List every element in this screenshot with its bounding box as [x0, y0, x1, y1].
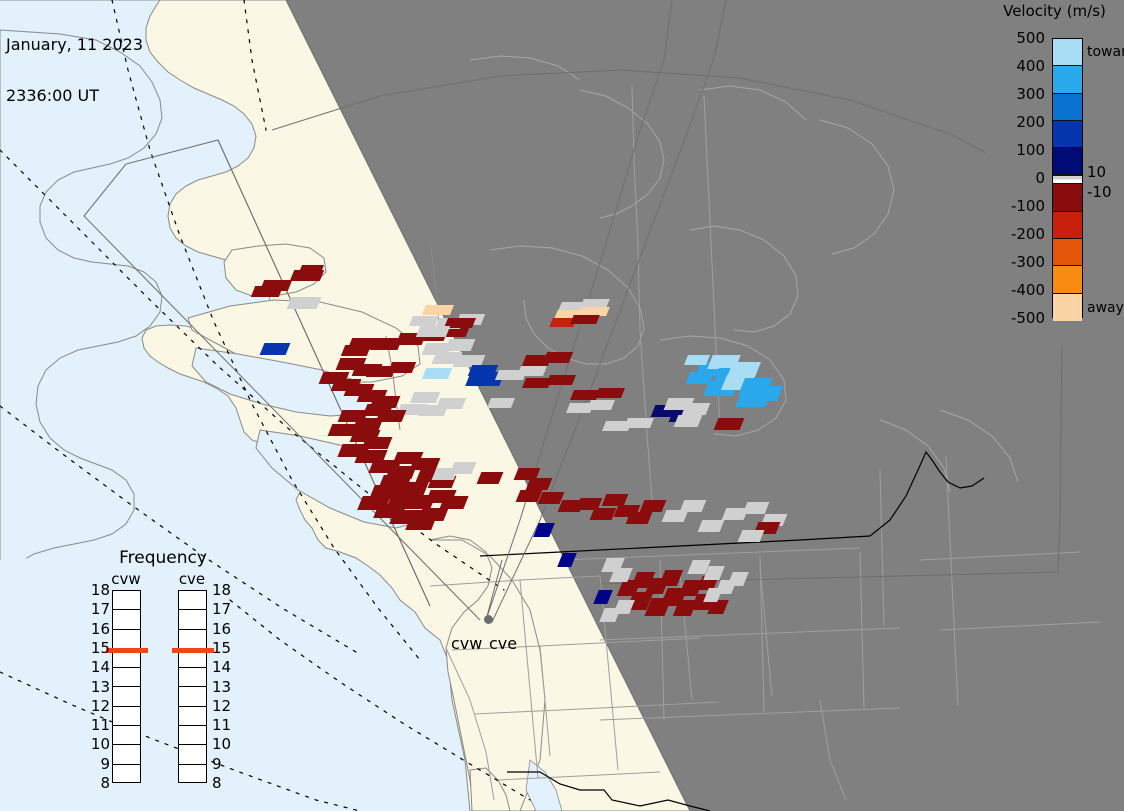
velocity-colorbar-ticks: 5004003002001000-100-200-300-400-500 — [985, 38, 1049, 320]
velocity-cell — [287, 297, 322, 309]
velocity-cell — [468, 365, 498, 376]
velocity-cell — [659, 570, 683, 586]
frequency-scale-tick: 11 — [91, 716, 110, 734]
velocity-cell — [624, 418, 654, 428]
colorbar-zero-band — [1053, 175, 1082, 184]
frequency-scale-tick: 12 — [212, 697, 231, 715]
velocity-cell — [640, 500, 667, 512]
colorbar-segment — [1053, 239, 1082, 266]
colorbar-tick-label: -500 — [1011, 309, 1045, 327]
frequency-gauge-cell — [179, 745, 206, 764]
velocity-cell — [674, 415, 703, 427]
frequency-gauge-cell — [113, 668, 140, 687]
velocity-cell — [409, 316, 439, 326]
frequency-gauge-cell — [113, 765, 140, 784]
velocity-cell — [388, 362, 416, 373]
frequency-gauge-cell — [179, 687, 206, 706]
colorbar-segment — [1053, 94, 1082, 121]
frequency-panel-title: Frequency — [88, 548, 238, 568]
colorbar-tick-label: 400 — [1016, 57, 1045, 75]
frequency-gauge-cell — [113, 630, 140, 649]
frequency-gauge-cell — [113, 687, 140, 706]
velocity-cell — [751, 386, 783, 401]
velocity-cell — [416, 326, 450, 337]
colorbar-tick-label: -200 — [1011, 225, 1045, 243]
colorbar-segment — [1053, 148, 1082, 175]
colorbar-segment — [1053, 294, 1082, 321]
frequency-scale-tick: 12 — [91, 697, 110, 715]
colorbar-tick-label: 500 — [1016, 29, 1045, 47]
frequency-gauge-cell — [179, 726, 206, 745]
velocity-cell — [526, 478, 553, 490]
colorbar-segment — [1053, 66, 1082, 93]
velocity-cell — [743, 502, 770, 514]
velocity-cell — [533, 523, 555, 537]
colorbar-pos-threshold-label: 10 — [1087, 163, 1106, 181]
colorbar-tick-label: 200 — [1016, 113, 1045, 131]
frequency-scale-tick: 13 — [212, 678, 231, 696]
velocity-cell — [298, 265, 324, 275]
frequency-gauge-label-cvw: cvw — [104, 570, 148, 588]
velocity-cell — [422, 368, 452, 379]
colorbar-tick-label: 100 — [1016, 141, 1045, 159]
radar-label-cvw: cvw — [451, 634, 482, 653]
frequency-gauge-cell — [113, 591, 140, 610]
velocity-cell — [714, 418, 745, 430]
frequency-gauge-cell — [113, 707, 140, 726]
frequency-scale-right: 18171615141312111098 — [212, 590, 238, 783]
velocity-colorbar — [1052, 38, 1083, 318]
velocity-cell — [260, 280, 292, 291]
frequency-marker-cve — [172, 648, 214, 653]
frequency-scale-tick: 17 — [91, 600, 110, 618]
frequency-scale-tick: 18 — [91, 581, 110, 599]
colorbar-toward-label: toward — [1087, 44, 1124, 60]
velocity-cell — [546, 375, 576, 385]
frequency-scale-tick: 13 — [91, 678, 110, 696]
colorbar-segment — [1053, 212, 1082, 239]
frequency-scale-tick: 9 — [212, 755, 222, 773]
velocity-cell — [445, 339, 476, 351]
velocity-cell — [410, 392, 440, 403]
velocity-colorbar-title: Velocity (m/s) — [985, 2, 1124, 20]
velocity-cell — [698, 520, 725, 532]
velocity-cell — [422, 305, 454, 315]
frequency-scale-tick: 14 — [212, 658, 231, 676]
frequency-gauge-cvw — [112, 590, 141, 783]
frequency-gauge-cve — [178, 590, 207, 783]
time-text: 2336:00 UT — [6, 87, 143, 104]
frequency-scale-tick: 18 — [212, 581, 231, 599]
date-text: January, 11 2023 — [6, 36, 143, 53]
velocity-cell — [477, 472, 504, 484]
radar-site-marker — [484, 615, 493, 624]
frequency-scale-tick: 8 — [100, 774, 110, 792]
colorbar-tick-label: -100 — [1011, 197, 1045, 215]
frequency-gauge-cell — [179, 630, 206, 649]
frequency-gauge-cell — [179, 668, 206, 687]
velocity-cell — [684, 355, 710, 365]
frequency-scale-tick: 16 — [212, 620, 231, 638]
frequency-gauge-cell — [179, 591, 206, 610]
velocity-cell — [682, 403, 711, 415]
colorbar-segment — [1053, 39, 1082, 66]
frequency-scale-tick: 10 — [212, 735, 231, 753]
frequency-gauge-label-cve: cve — [170, 570, 214, 588]
velocity-cell — [595, 388, 625, 398]
velocity-cell — [590, 508, 617, 520]
colorbar-segment — [1053, 266, 1082, 293]
superdarn-velocity-map: cvw cve January, 11 2023 2336:00 UT Velo… — [0, 0, 1124, 811]
velocity-cell — [680, 500, 707, 512]
colorbar-away-label: away — [1087, 300, 1124, 316]
frequency-scale-tick: 15 — [212, 639, 231, 657]
frequency-gauge-cell — [179, 707, 206, 726]
velocity-cell — [557, 553, 577, 567]
frequency-scale-tick: 16 — [91, 620, 110, 638]
frequency-scale-left: 18171615141312111098 — [88, 590, 110, 783]
frequency-scale-tick: 8 — [212, 774, 222, 792]
velocity-cell — [260, 343, 291, 355]
velocity-cell — [587, 400, 615, 410]
velocity-cell — [593, 590, 613, 604]
velocity-cell — [570, 315, 600, 324]
velocity-cell — [543, 352, 573, 363]
frequency-gauge-cell — [113, 745, 140, 764]
radar-label-cve: cve — [489, 634, 517, 653]
frequency-scale-tick: 9 — [100, 755, 110, 773]
velocity-cell — [599, 608, 621, 622]
colorbar-tick-label: 300 — [1016, 85, 1045, 103]
colorbar-segment — [1053, 121, 1082, 148]
colorbar-tick-label: -400 — [1011, 281, 1045, 299]
frequency-scale-tick: 11 — [212, 716, 231, 734]
frequency-gauge-cell — [113, 610, 140, 629]
velocity-cell — [418, 405, 448, 416]
frequency-gauge-cell — [179, 610, 206, 629]
colorbar-tick-label: 0 — [1035, 169, 1045, 187]
velocity-cell — [686, 372, 715, 384]
frequency-gauge-cell — [179, 765, 206, 784]
colorbar-segment — [1053, 184, 1082, 211]
frequency-scale-tick: 17 — [212, 600, 231, 618]
velocity-cell — [517, 366, 547, 376]
colorbar-neg-threshold-label: -10 — [1087, 183, 1112, 201]
velocity-cell — [417, 508, 448, 521]
velocity-cell — [450, 462, 477, 474]
colorbar-tick-label: -300 — [1011, 253, 1045, 271]
frequency-scale-tick: 15 — [91, 639, 110, 657]
frequency-panel: Frequency cvw cve 18171615141312111098 1… — [88, 548, 238, 793]
velocity-cell — [727, 572, 749, 586]
frequency-gauge-cell — [113, 726, 140, 745]
velocity-cell — [626, 512, 653, 524]
frequency-scale-tick: 10 — [91, 735, 110, 753]
velocity-cell — [738, 530, 765, 542]
frequency-scale-tick: 14 — [91, 658, 110, 676]
frequency-marker-cvw — [106, 648, 148, 653]
velocity-cell — [487, 398, 515, 408]
timestamp-block: January, 11 2023 2336:00 UT — [6, 2, 143, 138]
